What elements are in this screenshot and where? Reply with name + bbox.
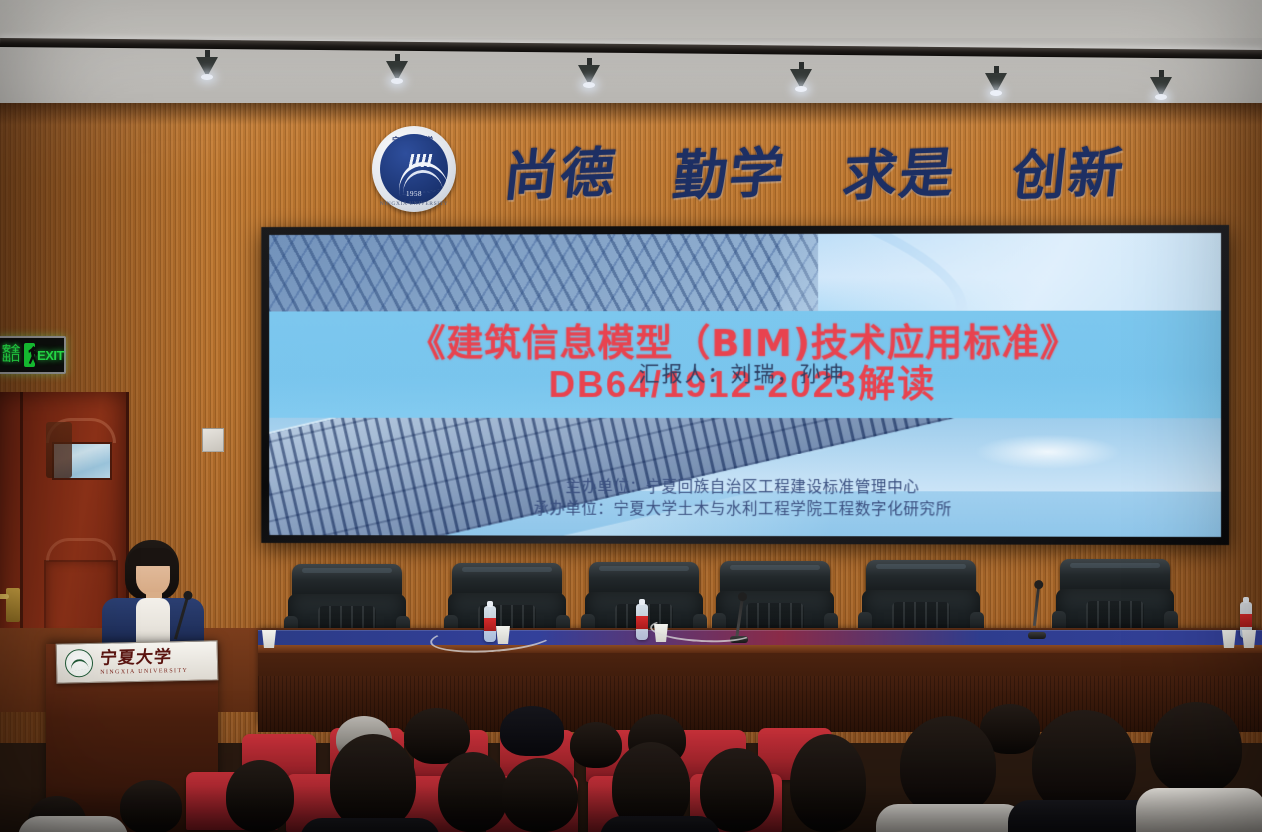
spotlight-icon — [578, 58, 600, 88]
audience-head-with-cap — [500, 706, 564, 756]
ceiling — [0, 0, 1262, 112]
slide-top-image-truss — [269, 233, 1221, 313]
ceiling-soffit — [0, 0, 1262, 38]
motto-word-3: 求是 — [839, 128, 960, 211]
emblem-name-en: NINGXIA UNIVERSITY — [372, 201, 456, 207]
podium-logo-icon — [65, 649, 94, 678]
presentation-slide: 《建筑信息模型（BIM)技术应用标准》 DB64/1912-2023解读 汇报人… — [269, 233, 1221, 537]
audience-area — [0, 700, 1262, 832]
paper-cup[interactable] — [1222, 630, 1236, 648]
motto-word-4: 创新 — [1009, 128, 1130, 211]
podium-sign-en: NINGXIA UNIVERSITY — [100, 667, 188, 675]
led-display-screen[interactable]: 《建筑信息模型（BIM)技术应用标准》 DB64/1912-2023解读 汇报人… — [261, 225, 1229, 545]
light-track-rail — [0, 38, 1262, 59]
table-edge — [258, 645, 1262, 653]
water-bottle[interactable] — [636, 604, 648, 640]
microphone-base — [1028, 632, 1046, 639]
emblem-year: 1958 — [380, 190, 448, 198]
slide-organizer-lines: 主办单位：宁夏回族自治区工程建设标准管理中心 承办单位：宁夏大学土木与水利工程学… — [269, 475, 1221, 521]
spotlight-icon — [1150, 70, 1172, 100]
spotlight-icon — [790, 62, 812, 92]
audience-head — [1150, 702, 1242, 794]
slide-presenter-line: 汇报人：刘瑞，孙坤 — [269, 358, 1221, 388]
exit-sign-label-cn: 安全出口 — [2, 346, 22, 364]
wall-speaker — [46, 422, 72, 478]
motto-calligraphy: 尚德 勤学 求是 创新 — [505, 128, 1125, 210]
motto-word-2: 勤学 — [670, 128, 791, 211]
podium-nameplate: 宁夏大学 NINGXIA UNIVERSITY — [56, 640, 219, 683]
running-man-exit-icon — [24, 343, 35, 367]
slide-organizer-line1: 主办单位：宁夏回族自治区工程建设标准管理中心 — [269, 475, 1221, 499]
spotlight-icon — [985, 66, 1007, 96]
paper-cup[interactable] — [1242, 630, 1256, 648]
spotlight-icon — [196, 50, 218, 80]
wall-switch-plate[interactable] — [202, 428, 224, 452]
motto-word-1: 尚德 — [501, 128, 622, 211]
paper-cup[interactable] — [262, 630, 276, 648]
slide-organizer-line2: 承办单位：宁夏大学土木与水利工程学院工程数字化研究所 — [269, 497, 1221, 521]
spotlight-icon — [386, 54, 408, 84]
exit-sign-label-en: EXIT — [37, 348, 64, 363]
podium-sign-cn: 宁夏大学 — [99, 648, 188, 667]
auditorium-photo: 安全出口 EXIT 宁夏大学 1958 NINGXIA UNIVERSITY 尚… — [0, 0, 1262, 832]
exit-sign: 安全出口 EXIT — [0, 336, 66, 374]
university-emblem: 宁夏大学 1958 NINGXIA UNIVERSITY — [372, 126, 456, 212]
audience-head — [570, 722, 622, 768]
